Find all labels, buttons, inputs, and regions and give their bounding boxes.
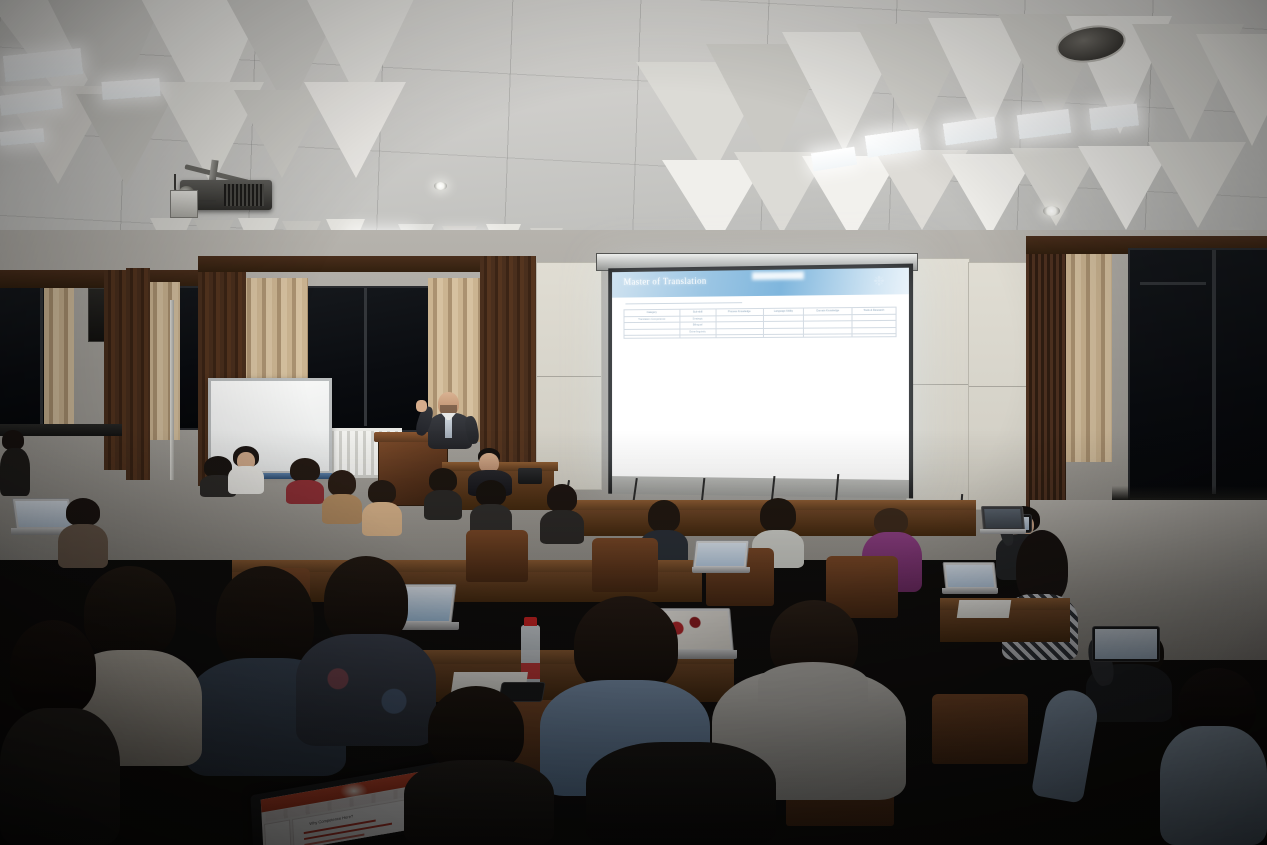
torso [286,480,324,504]
hair-long [1016,530,1068,604]
hair-long [324,556,408,644]
slide-table-cell [680,335,716,338]
torso-dark [586,742,776,845]
curtain-left-a [44,282,74,434]
torso [322,494,362,524]
audience-member-foreground [1160,640,1267,845]
audience-member [540,484,584,544]
audience-member-foreground [586,742,776,845]
recessed-downlight [1043,206,1060,216]
phone-screen [1095,629,1157,659]
hair [429,468,457,492]
hair-long [10,620,96,716]
screen-glare [340,782,368,800]
window-sill-right [1112,486,1267,500]
slide-table-row [624,334,896,339]
hair [648,500,680,532]
hood [758,662,868,702]
slide-title: Master of Translation [624,276,707,287]
torso [540,510,584,544]
slide-divider-rule [625,302,742,304]
laptop-lid [981,506,1025,531]
audience-member [424,468,462,520]
torso-dark [404,760,554,845]
laptop-lid [943,562,998,590]
window-mullion [40,288,43,424]
ppt-thumbnail-pane [264,820,292,845]
chair[interactable] [932,694,1028,764]
recessed-downlight [434,182,447,190]
laptop-base [980,529,1026,534]
hair [547,484,577,512]
audience-member-foreground [0,620,120,845]
front-desk-monitor [518,468,542,484]
hair [290,458,320,482]
projection-screen[interactable]: ❉ Master of Translation Category Sub-ski… [612,268,909,480]
laptop-screen [984,509,1022,528]
slide-logo-icon: ❉ [868,273,891,290]
acoustic-wall-panel [536,262,602,490]
hair [368,480,396,504]
slide-table-cell [763,334,804,337]
chair[interactable] [592,538,658,592]
wood-slat-pillar [1026,252,1066,514]
slide-header-band: ❉ Master of Translation [612,268,909,298]
audience-member [470,480,512,536]
hair [66,498,100,526]
laptop[interactable] [694,540,750,574]
laptop-screen [946,565,994,587]
torso [58,524,108,568]
audience-member [362,480,402,536]
hair [874,508,908,534]
torso-light-blue [1160,726,1267,845]
slide-table-cell [804,334,852,337]
slide-table: Category Sub-skill Process Knowledge Lan… [624,307,897,339]
projection-screen-frame[interactable]: ❉ Master of Translation Category Sub-ski… [608,264,913,499]
torso [0,448,30,496]
slide-table-cell [624,335,680,338]
chair[interactable] [466,530,528,582]
torso [424,490,462,520]
wood-pillar-left-b [126,268,150,480]
window-right [1128,248,1267,500]
window-frame-inner [1140,282,1206,285]
hair-long [574,596,678,692]
laptop-screen [696,543,746,566]
hair [760,498,796,532]
torso [228,466,264,494]
audience-member [58,498,108,568]
presenter-hand [416,400,427,412]
slide-table-cell [716,334,763,337]
pipe-left [170,300,174,480]
raised-arm-blue-sleeve [1031,686,1101,803]
presenter [416,392,486,448]
laptop-base [942,588,998,594]
hair [476,480,506,506]
lecture-hall-photo: ❉ Master of Translation Category Sub-ski… [0,0,1267,845]
audience-member [322,470,362,524]
window-mullion [1212,250,1216,494]
bottle-cap [524,617,537,626]
ppt-slide-bullet [304,834,364,845]
smartphone-held-up[interactable] [1092,626,1160,662]
laptop[interactable] [944,562,998,596]
audience-member [286,458,324,504]
audience-member-foreground [404,686,554,845]
acoustic-wall-panel [906,258,970,510]
projector-mount-plate [170,190,198,218]
laptop-base [692,567,750,573]
audience-member [0,430,30,496]
torso-dark [0,708,120,845]
acoustic-wall-panel [968,262,1028,510]
wall-wood-trim-upper [198,256,498,272]
window-mullion [364,288,367,426]
audience-member [228,446,264,494]
laptop[interactable] [982,506,1026,536]
torso [362,502,402,536]
curtain-left-b [148,282,180,440]
slide-table-cell [852,334,896,337]
ceiling-projector [170,160,278,216]
hair [328,470,356,496]
slide-header-highlight [752,271,804,280]
curtain-right [1066,246,1112,462]
presentation-slide: ❉ Master of Translation Category Sub-ski… [612,268,909,480]
hair [2,430,24,450]
handout-paper[interactable] [957,600,1012,618]
laptop-lid [692,540,749,569]
